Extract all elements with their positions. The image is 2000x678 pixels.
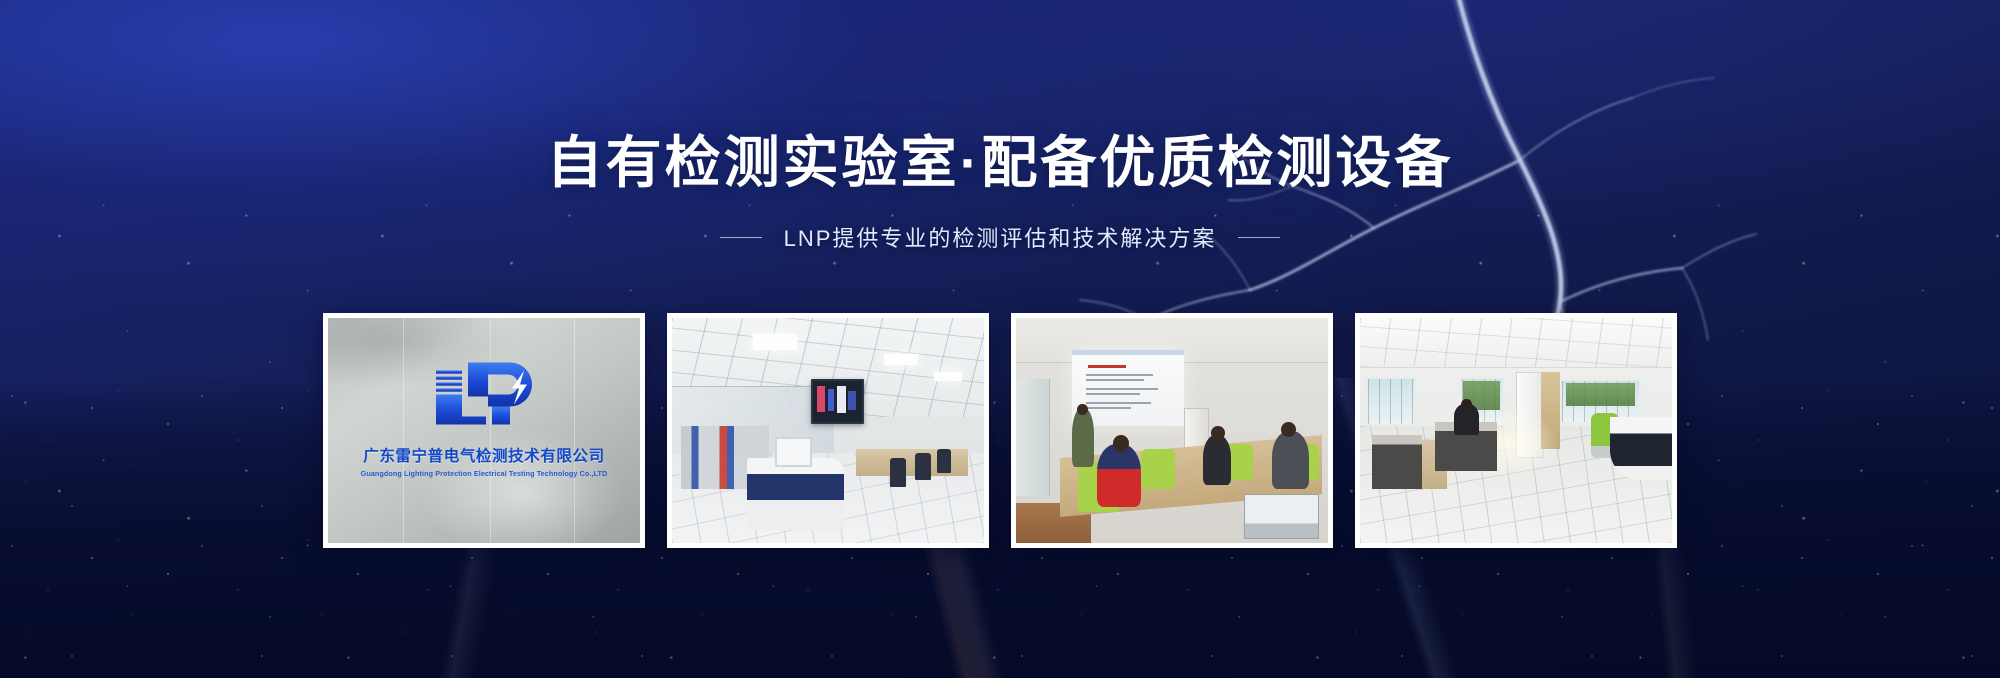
attendee-front — [1097, 444, 1141, 507]
office-ceiling — [1360, 318, 1672, 368]
banner-title: 自有检测实验室·配备优质检测设备 — [0, 118, 2000, 199]
office-desk-left — [1372, 435, 1422, 489]
lab-monitor — [775, 437, 812, 466]
office-window-left — [1366, 377, 1416, 427]
photo-frame-laboratory[interactable] — [667, 313, 989, 548]
attendee-mid — [1203, 435, 1231, 485]
lab-control-console — [747, 458, 844, 530]
company-name-cn: 广东雷宁普电气检测技术有限公司 — [328, 444, 640, 466]
banner-subtitle: LNP提供专业的检测评估和技术解决方案 — [784, 221, 1217, 253]
photo-frame-meeting-room[interactable] — [1011, 313, 1333, 548]
photo-office — [1360, 318, 1672, 543]
horizontal-rule-left — [720, 237, 762, 238]
hero-banner: 自有检测实验室·配备优质检测设备 LNP提供专业的检测评估和技术解决方案 — [0, 0, 2000, 678]
banner-copy: 自有检测实验室·配备优质检测设备 LNP提供专业的检测评估和技术解决方案 — [0, 0, 2000, 253]
photo-meeting-room — [1016, 318, 1328, 543]
company-name-en: Guangdong Lighting Protection Electrical… — [328, 469, 640, 478]
meeting-door — [1016, 379, 1050, 496]
photo-laboratory — [672, 318, 984, 543]
attendee-right — [1272, 431, 1309, 490]
lab-desk-row — [856, 449, 968, 476]
office-reception-counter — [1610, 417, 1672, 480]
presenter — [1072, 408, 1094, 467]
horizontal-rule-right — [1238, 237, 1280, 238]
photo-company-sign: 广东雷宁普电气检测技术有限公司 Guangdong Lighting Prote… — [328, 318, 640, 543]
photo-gallery: 广东雷宁普电气检测技术有限公司 Guangdong Lighting Prote… — [323, 313, 1677, 548]
lab-wall-tv — [811, 379, 864, 424]
banner-subtitle-row: LNP提供专业的检测评估和技术解决方案 — [0, 221, 2000, 253]
photo-frame-office[interactable] — [1355, 313, 1677, 548]
wall-sheen — [328, 318, 640, 543]
lnp-logo-icon — [432, 360, 548, 429]
photo-frame-company-sign[interactable]: 广东雷宁普电气检测技术有限公司 Guangdong Lighting Prote… — [323, 313, 645, 548]
laptop — [1244, 494, 1319, 539]
